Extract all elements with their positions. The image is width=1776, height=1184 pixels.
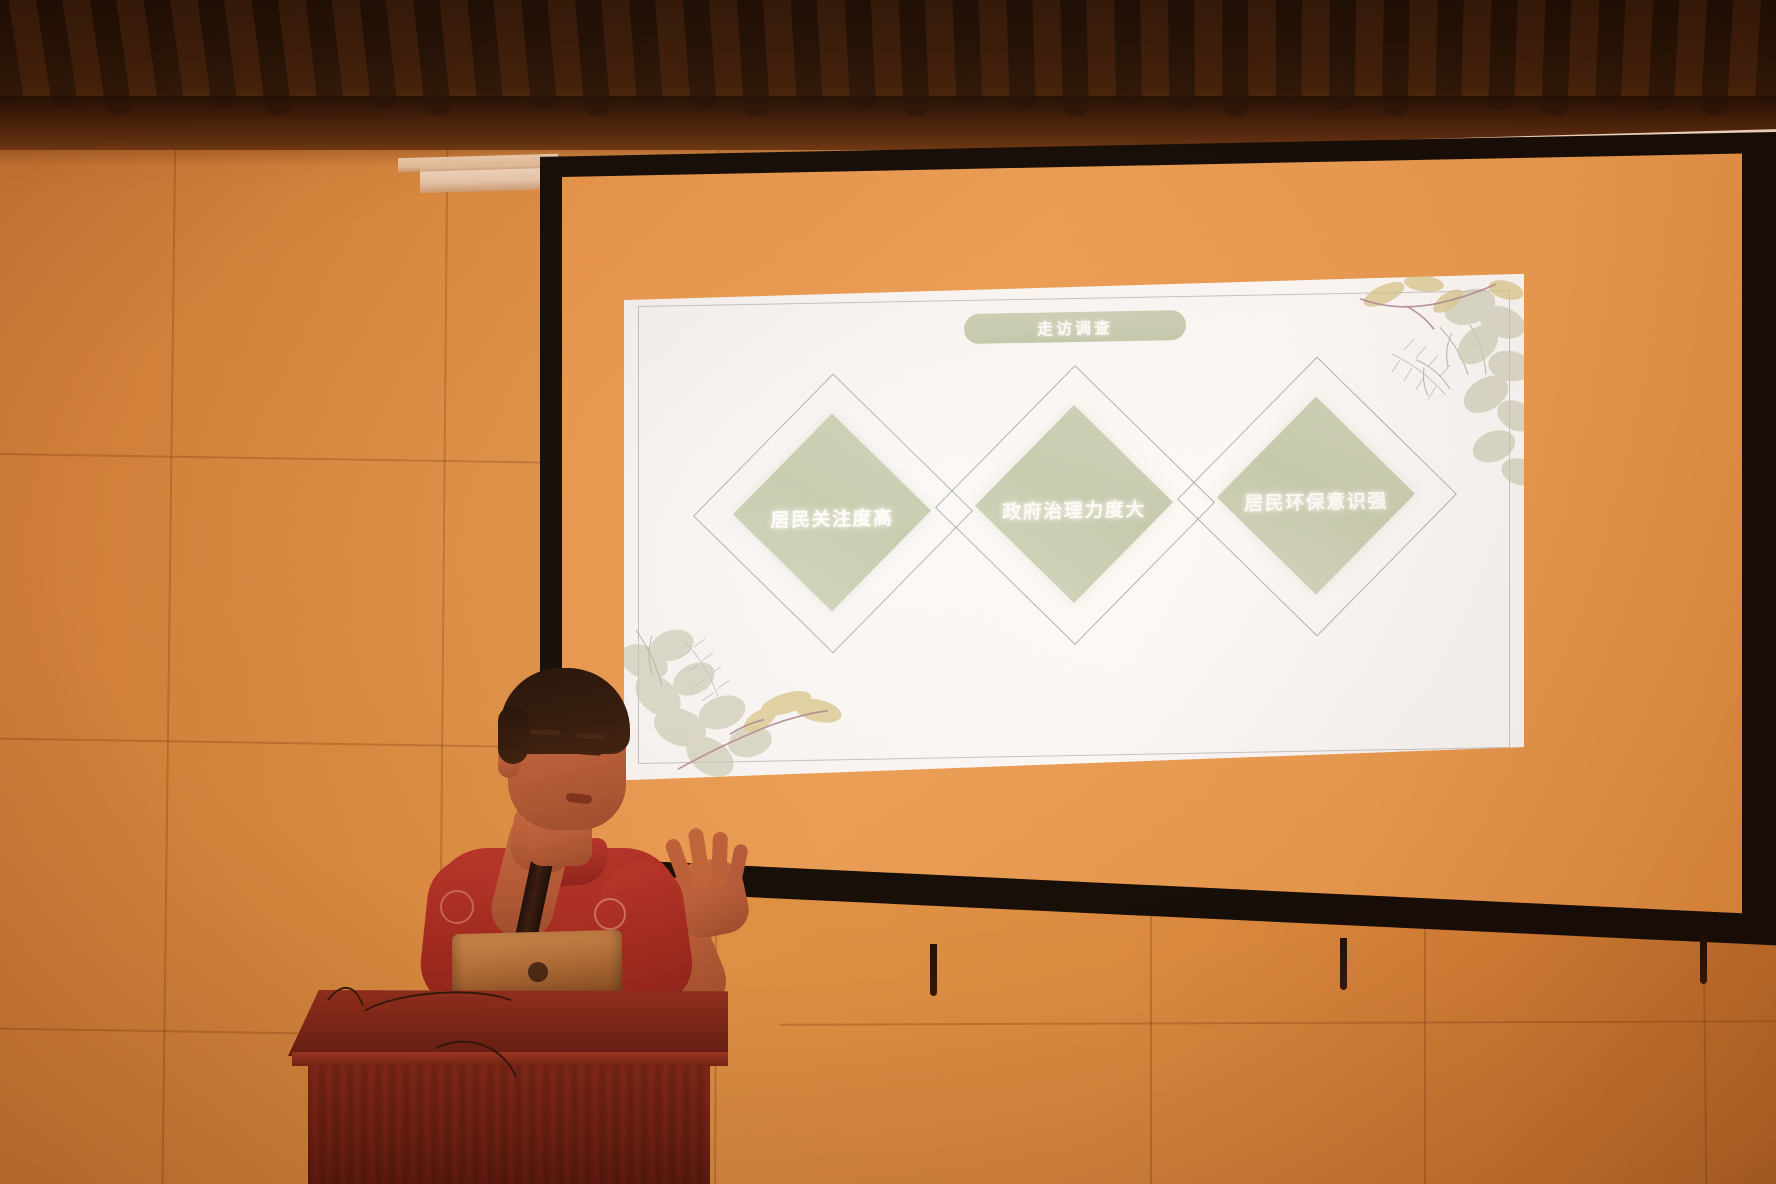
ceiling-slat [952, 0, 982, 104]
slide-title-banner: 走访调查 [964, 310, 1186, 344]
ceiling-slat [358, 0, 397, 111]
ceiling-slat [1114, 0, 1142, 104]
screen-strap [1700, 934, 1707, 984]
ceiling-slat [1329, 0, 1356, 110]
presenter-shirt-emblem [594, 898, 626, 930]
ceiling-slat [1006, 0, 1036, 110]
presentation-scene: 走访调查 居民关注度高 政府治理力度大 居民环保意识强 [0, 0, 1776, 1184]
ceiling-slat [790, 0, 823, 105]
slide-title-text: 走访调查 [1037, 314, 1113, 339]
screen-strap [1340, 938, 1347, 990]
ceiling-slat [1276, 0, 1302, 104]
presenter-finger [711, 832, 728, 890]
screen-strap [930, 944, 937, 996]
presenter-sleeve-emblem [440, 890, 474, 924]
ceiling-slat [1488, 0, 1518, 110]
laptop-logo-icon [528, 962, 548, 982]
ceiling-slat [142, 0, 184, 105]
projected-slide: 走访调查 居民关注度高 政府治理力度大 居民环保意识强 [624, 274, 1524, 780]
ceiling-slat [1435, 0, 1464, 104]
ceiling-slat [466, 0, 503, 105]
screen-surface: 走访调查 居民关注度高 政府治理力度大 居民环保意识强 [562, 152, 1742, 932]
ceiling-slat [1755, 0, 1776, 105]
ceiling-slat [844, 0, 876, 110]
presenter-hair-side [498, 706, 528, 764]
ceiling-slat [682, 0, 717, 111]
ceiling-slat [1648, 0, 1680, 110]
ceiling-slat [628, 0, 663, 105]
ceiling-slat [1595, 0, 1626, 104]
ceiling-slat [196, 0, 238, 111]
ceiling-slat [0, 0, 24, 105]
ceiling-slat [304, 0, 344, 105]
diamond-label-3: 居民环保意识强 [1166, 485, 1466, 517]
ceiling-slat [34, 0, 78, 111]
ceiling-slat [1168, 0, 1195, 110]
ceiling-slat [520, 0, 557, 111]
